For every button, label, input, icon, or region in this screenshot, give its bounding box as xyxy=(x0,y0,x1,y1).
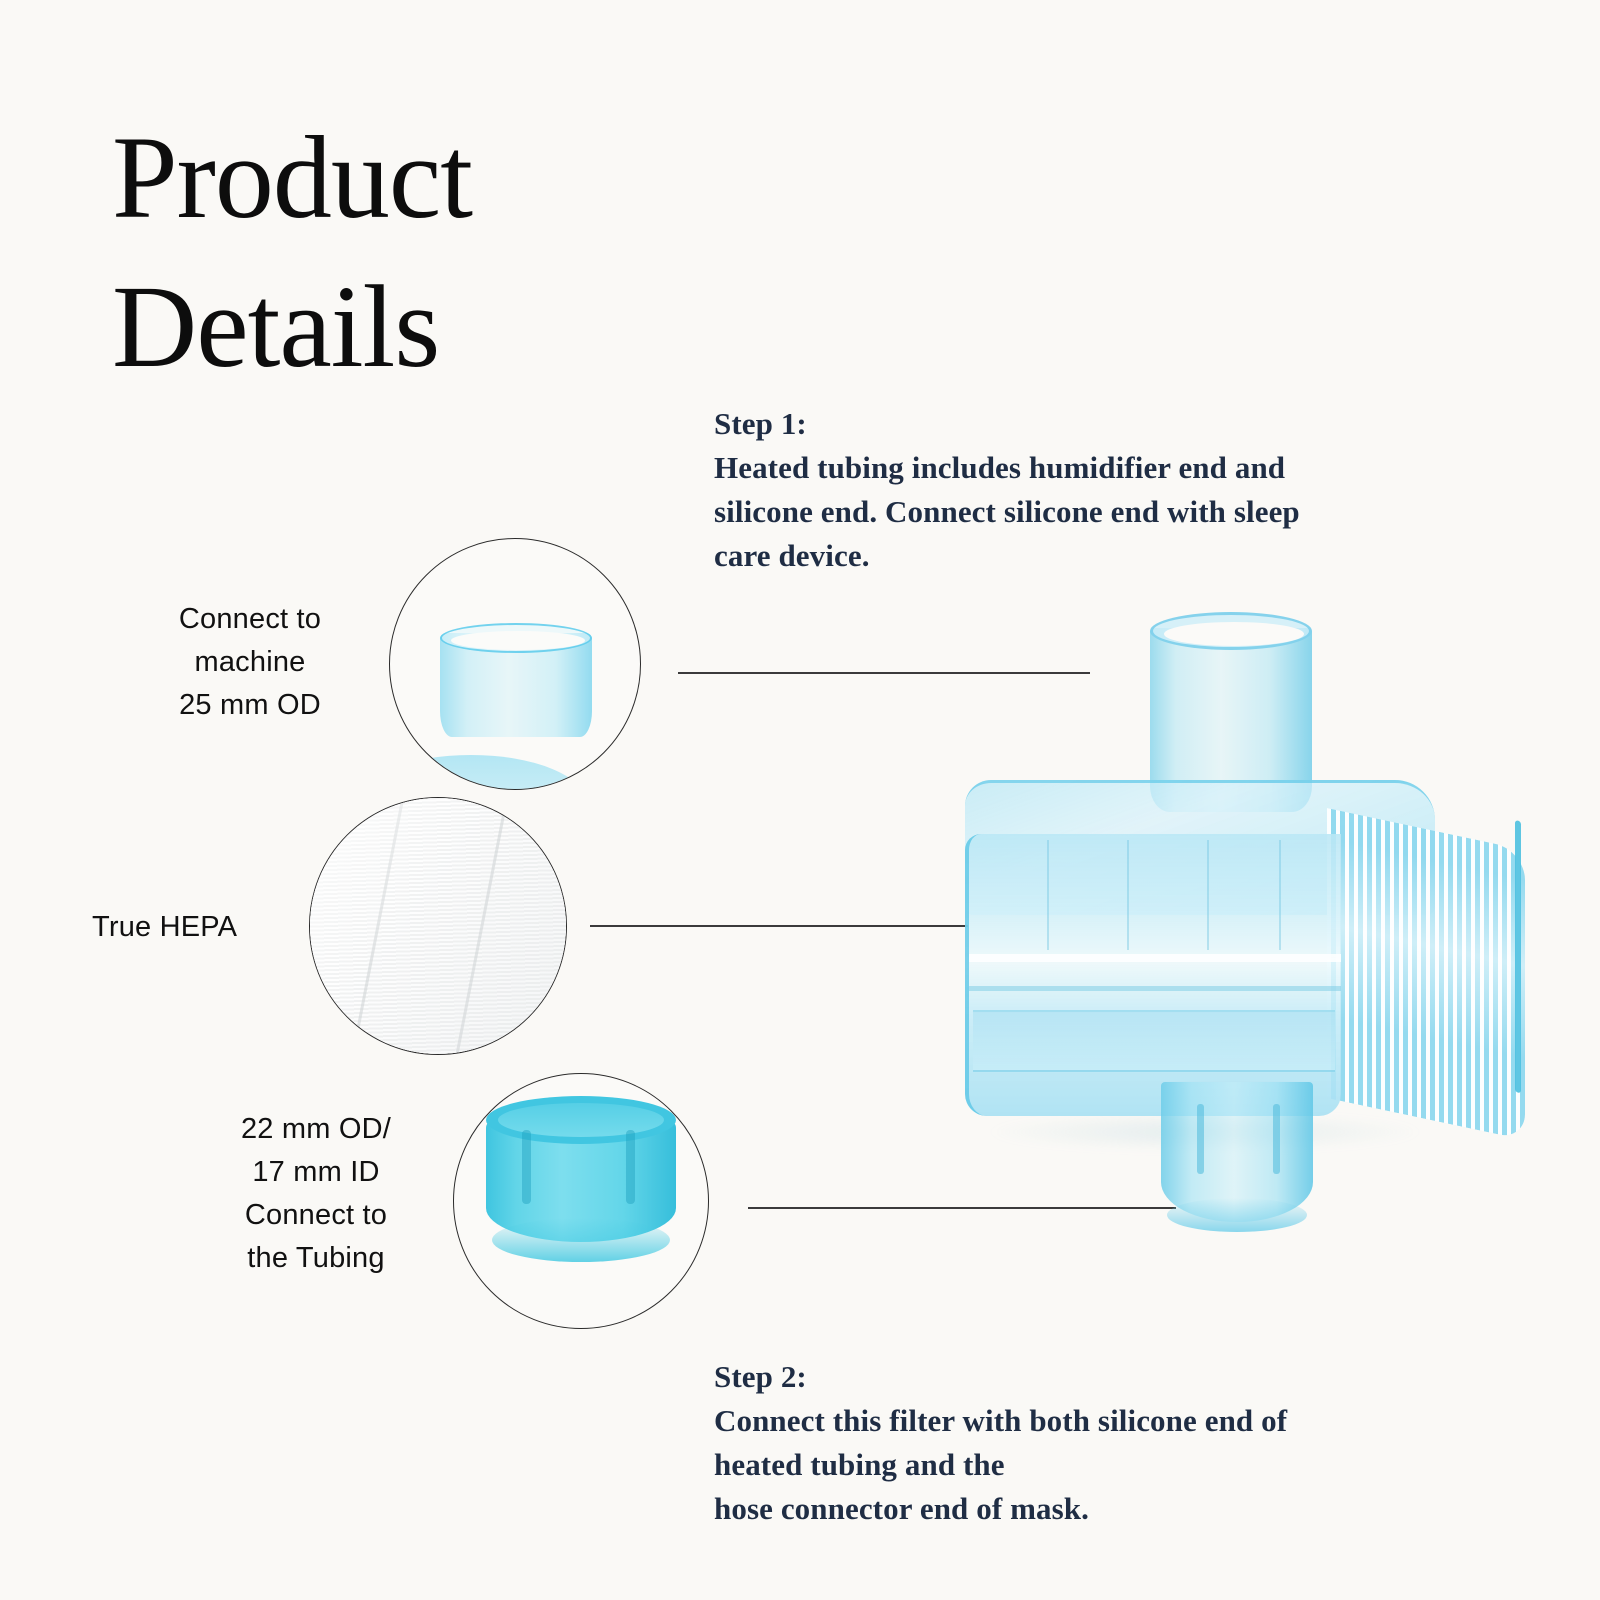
callout-tubing-line-4: the Tubing xyxy=(188,1237,444,1280)
outlet-port-rib xyxy=(1197,1104,1204,1174)
detail-circle-machine-connector xyxy=(389,538,641,790)
detail-circle-hepa-media xyxy=(309,797,567,1055)
housing-seam xyxy=(1127,840,1129,950)
callout-label-machine-connector: Connect to machine 25 mm OD xyxy=(118,598,382,727)
outlet-port-rib xyxy=(1273,1104,1280,1174)
product-image-hepa-filter xyxy=(955,612,1525,1232)
housing-band xyxy=(969,954,1341,962)
product-right-edge xyxy=(1515,820,1521,1093)
step-1-block: Step 1: Heated tubing includes humidifie… xyxy=(714,402,1484,578)
callout-tubing-line-1: 22 mm OD/ xyxy=(188,1108,444,1151)
product-pleated-right-face xyxy=(1327,808,1525,1140)
leader-line-middle xyxy=(590,925,968,927)
callout-machine-line-2: machine xyxy=(118,641,382,684)
product-front-face xyxy=(965,834,1341,1116)
callout-tubing-line-2: 17 mm ID xyxy=(188,1151,444,1194)
port-rim xyxy=(440,623,592,653)
step-1-label: Step 1: xyxy=(714,402,1484,446)
port-rim xyxy=(486,1096,676,1144)
step-1-line-3: care device. xyxy=(714,534,1484,578)
step-1-line-2: silicone end. Connect silicone end with … xyxy=(714,490,1484,534)
callout-machine-line-3: 25 mm OD xyxy=(118,684,382,727)
step-2-line-3: hose connector end of mask. xyxy=(714,1487,1484,1531)
housing-seam xyxy=(1047,840,1049,950)
page-title: Product Details xyxy=(112,104,732,401)
callout-machine-line-1: Connect to xyxy=(118,598,382,641)
vivid-cyan-connector-port-icon xyxy=(486,1096,676,1264)
step-2-line-1: Connect this filter with both silicone e… xyxy=(714,1399,1484,1443)
step-2-label: Step 2: xyxy=(714,1355,1484,1399)
white-pleated-filter-media-icon xyxy=(309,797,567,1055)
outlet-port-lip xyxy=(1167,1198,1307,1232)
housing-groove xyxy=(973,1010,1335,1072)
housing-seam xyxy=(1279,840,1281,950)
step-2-line-2: heated tubing and the xyxy=(714,1443,1484,1487)
port-bottom-shade xyxy=(492,1218,670,1262)
callout-label-tubing-connector: 22 mm OD/ 17 mm ID Connect to the Tubing xyxy=(188,1108,444,1280)
housing-seam xyxy=(1207,840,1209,950)
inlet-port-rim xyxy=(1150,612,1312,650)
page-title-line-2: Details xyxy=(112,253,732,402)
step-1-line-1: Heated tubing includes humidifier end an… xyxy=(714,446,1484,490)
port-rib xyxy=(522,1130,531,1204)
port-flange xyxy=(389,755,586,790)
product-outlet-port xyxy=(1161,1082,1313,1234)
detail-circle-tubing-connector xyxy=(453,1073,709,1329)
hepa-shading xyxy=(309,797,567,1055)
callout-tubing-line-3: Connect to xyxy=(188,1194,444,1237)
step-2-block: Step 2: Connect this filter with both si… xyxy=(714,1355,1484,1531)
port-rib xyxy=(626,1130,635,1204)
housing-band xyxy=(969,986,1341,991)
inlet-port-bore xyxy=(1164,622,1304,646)
pale-cyan-connector-port-icon xyxy=(440,623,592,739)
product-details-infographic: Product Details Step 1: Heated tubing in… xyxy=(0,0,1600,1600)
port-bore xyxy=(451,631,585,650)
page-title-line-1: Product xyxy=(112,104,732,253)
